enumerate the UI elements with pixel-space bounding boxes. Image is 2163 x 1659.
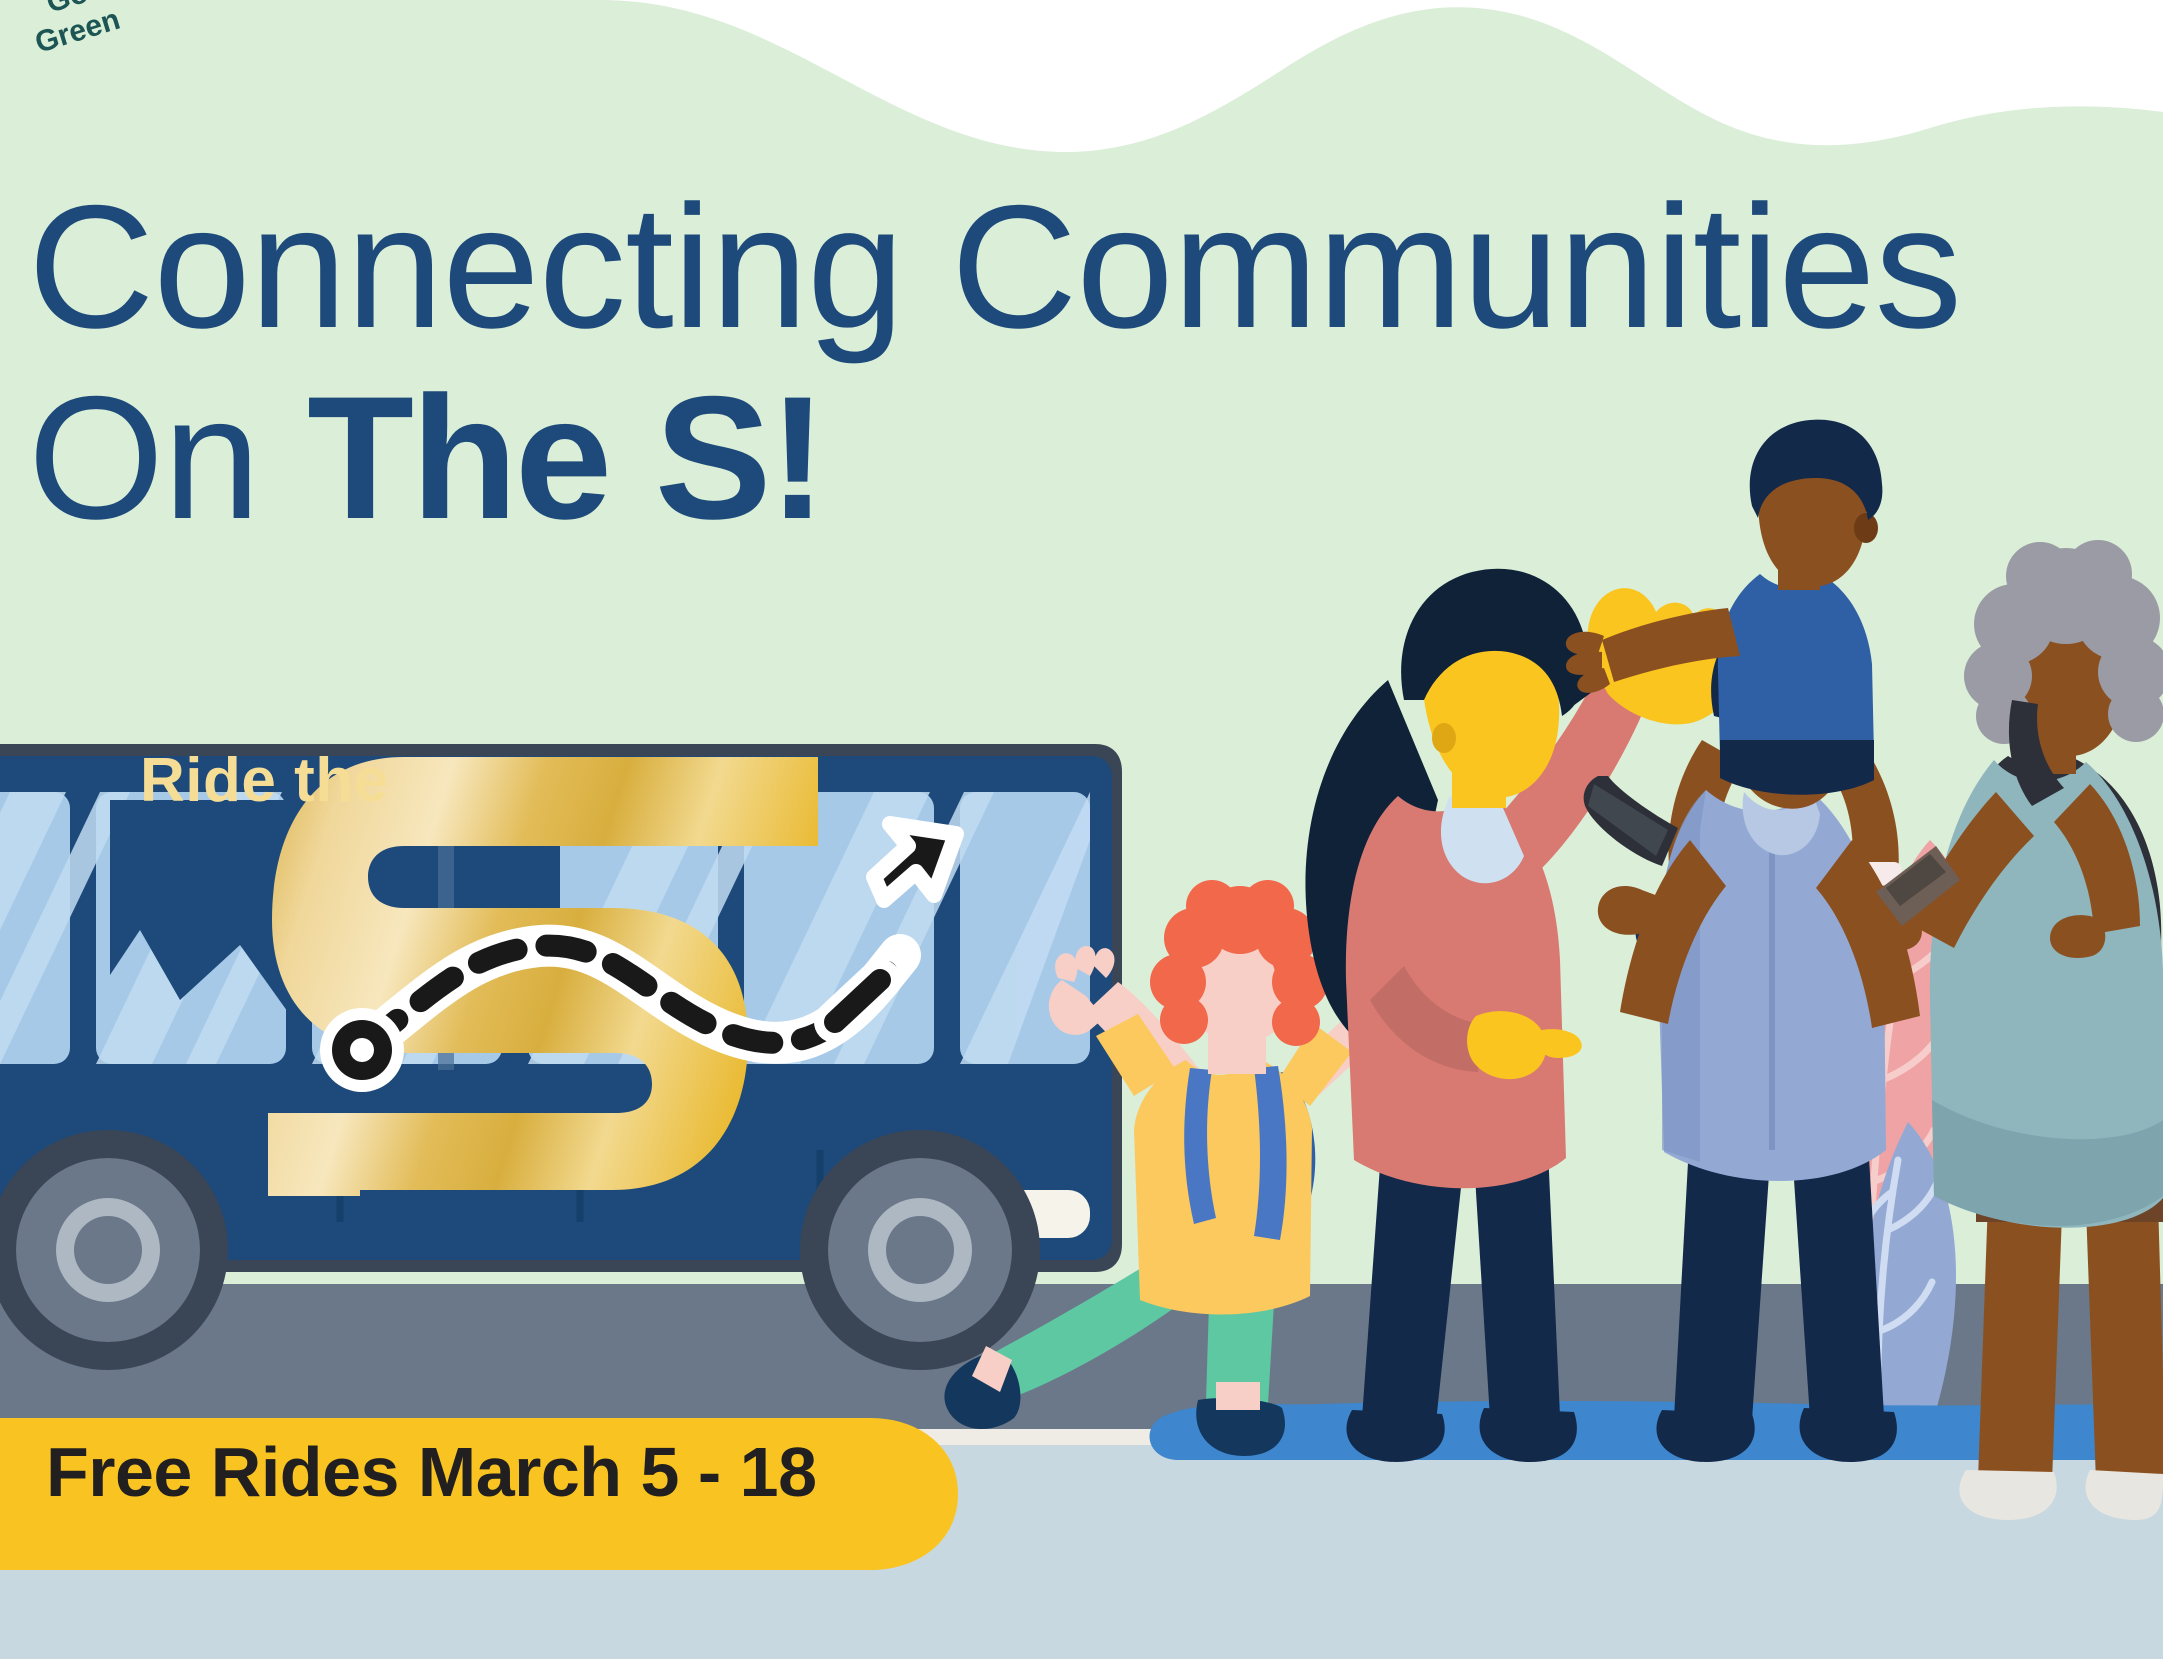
headline-line-2-light: On (28, 361, 307, 556)
headline-line-1: Connecting Communities (28, 180, 1961, 355)
bus-wheel-front (800, 1130, 1040, 1370)
headline-line-2: On The S! (28, 371, 1961, 546)
bus-ad-text: Ride the (140, 745, 389, 816)
page-title: Connecting Communities On The S! (28, 180, 1961, 546)
headline-line-2-bold: The S! (307, 361, 824, 556)
free-rides-banner-text: Free Rides March 5 - 18 (46, 1432, 817, 1512)
poster-canvas: Connecting Communities On The S! Ride th… (0, 0, 2163, 1659)
